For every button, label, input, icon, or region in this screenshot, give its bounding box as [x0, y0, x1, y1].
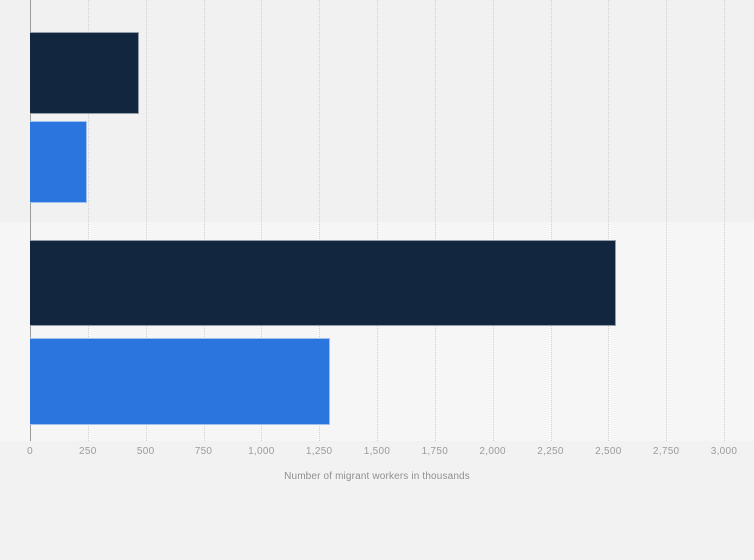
x-tick-label: 2,750: [653, 446, 680, 458]
bar[interactable]: [30, 338, 330, 425]
x-tick-label: 1,500: [364, 446, 391, 458]
gridline: [435, 0, 436, 441]
x-tick-label: 2,500: [595, 446, 622, 458]
x-axis-title: Number of migrant workers in thousands: [0, 470, 754, 483]
x-tick-label: 250: [79, 446, 97, 458]
x-tick-label: 1,000: [248, 446, 275, 458]
x-tick-label: 3,000: [711, 446, 738, 458]
gridline: [377, 0, 378, 441]
gridline: [666, 0, 667, 441]
x-tick-label: 0: [27, 446, 33, 458]
gridline: [493, 0, 494, 441]
gridline: [551, 0, 552, 441]
gridline: [608, 0, 609, 441]
x-tick-label: 1,750: [422, 446, 449, 458]
x-axis-tick-labels: 02505007501,0001,2501,5001,7502,0002,250…: [0, 441, 754, 465]
x-tick-label: 750: [195, 446, 213, 458]
x-tick-label: 500: [137, 446, 155, 458]
x-tick-label: 2,000: [479, 446, 506, 458]
bar[interactable]: [30, 121, 87, 203]
plot-area: [0, 0, 754, 441]
gridline: [724, 0, 725, 441]
bar[interactable]: [30, 240, 616, 326]
bar-chart: 02505007501,0001,2501,5001,7502,0002,250…: [0, 0, 754, 560]
x-tick-label: 1,250: [306, 446, 333, 458]
bar[interactable]: [30, 32, 139, 114]
footer-strip: [0, 492, 754, 560]
x-tick-label: 2,250: [537, 446, 564, 458]
